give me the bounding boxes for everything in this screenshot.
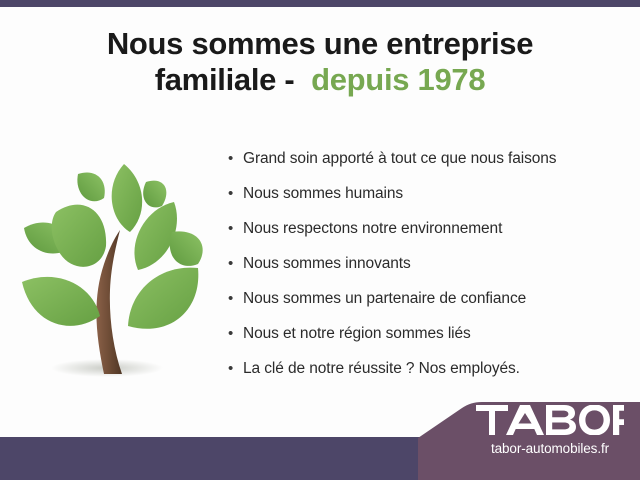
- list-item: • Nous sommes humains: [228, 185, 628, 220]
- headline-accent: depuis 1978: [311, 62, 485, 97]
- marketing-slide: Nous sommes une entreprise familiale - d…: [0, 0, 640, 480]
- tree-illustration: [12, 150, 218, 390]
- list-item-label: Nous sommes humains: [243, 185, 403, 203]
- headline-line-1: Nous sommes une entreprise: [0, 26, 640, 62]
- logo-tagline[interactable]: tabor-automobiles.fr: [470, 441, 630, 456]
- bullet-marker-icon: •: [228, 361, 243, 376]
- list-item: • Nous et notre région sommes liés: [228, 325, 628, 360]
- banner-left-block: [0, 437, 420, 480]
- headline-line-2: familiale - depuis 1978: [0, 62, 640, 98]
- headline-gap: [294, 62, 311, 97]
- bullet-marker-icon: •: [228, 151, 243, 166]
- headline-line-2-prefix: familiale: [155, 62, 276, 97]
- bullet-marker-icon: •: [228, 256, 243, 271]
- headline-dash-glyph: -: [284, 62, 294, 97]
- benefits-list: • Grand soin apporté à tout ce que nous …: [228, 150, 628, 395]
- list-item-label: Nous sommes innovants: [243, 255, 411, 273]
- list-item: • La clé de notre réussite ? Nos employé…: [228, 360, 628, 395]
- page-title: Nous sommes une entreprise familiale - d…: [0, 26, 640, 98]
- list-item-label: La clé de notre réussite ? Nos employés.: [243, 360, 520, 378]
- leaf-upper-left: [52, 205, 106, 267]
- list-item: • Grand soin apporté à tout ce que nous …: [228, 150, 628, 185]
- top-accent-strip: [0, 0, 640, 7]
- tree-icon: [12, 150, 218, 390]
- leaf-lower-right: [128, 268, 198, 329]
- tabor-wordmark-icon: [476, 405, 624, 435]
- list-item: • Nous respectons notre environnement: [228, 220, 628, 255]
- bullet-marker-icon: •: [228, 326, 243, 341]
- list-item-label: Nous sommes un partenaire de confiance: [243, 290, 526, 308]
- bullet-marker-icon: •: [228, 291, 243, 306]
- leaf-right-small: [143, 181, 166, 208]
- list-item-label: Nous respectons notre environnement: [243, 220, 502, 238]
- leaf-top-small: [77, 172, 104, 201]
- leaf-far-right: [170, 231, 203, 265]
- list-item-label: Grand soin apporté à tout ce que nous fa…: [243, 150, 556, 168]
- logo-wordmark: [470, 405, 630, 435]
- list-item: • Nous sommes un partenaire de confiance: [228, 290, 628, 325]
- brand-logo[interactable]: tabor-automobiles.fr: [470, 405, 630, 456]
- list-item-label: Nous et notre région sommes liés: [243, 325, 471, 343]
- leaf-center: [112, 164, 142, 232]
- list-item: • Nous sommes innovants: [228, 255, 628, 290]
- bullet-marker-icon: •: [228, 221, 243, 236]
- leaf-lower-left: [22, 277, 100, 326]
- bullet-marker-icon: •: [228, 186, 243, 201]
